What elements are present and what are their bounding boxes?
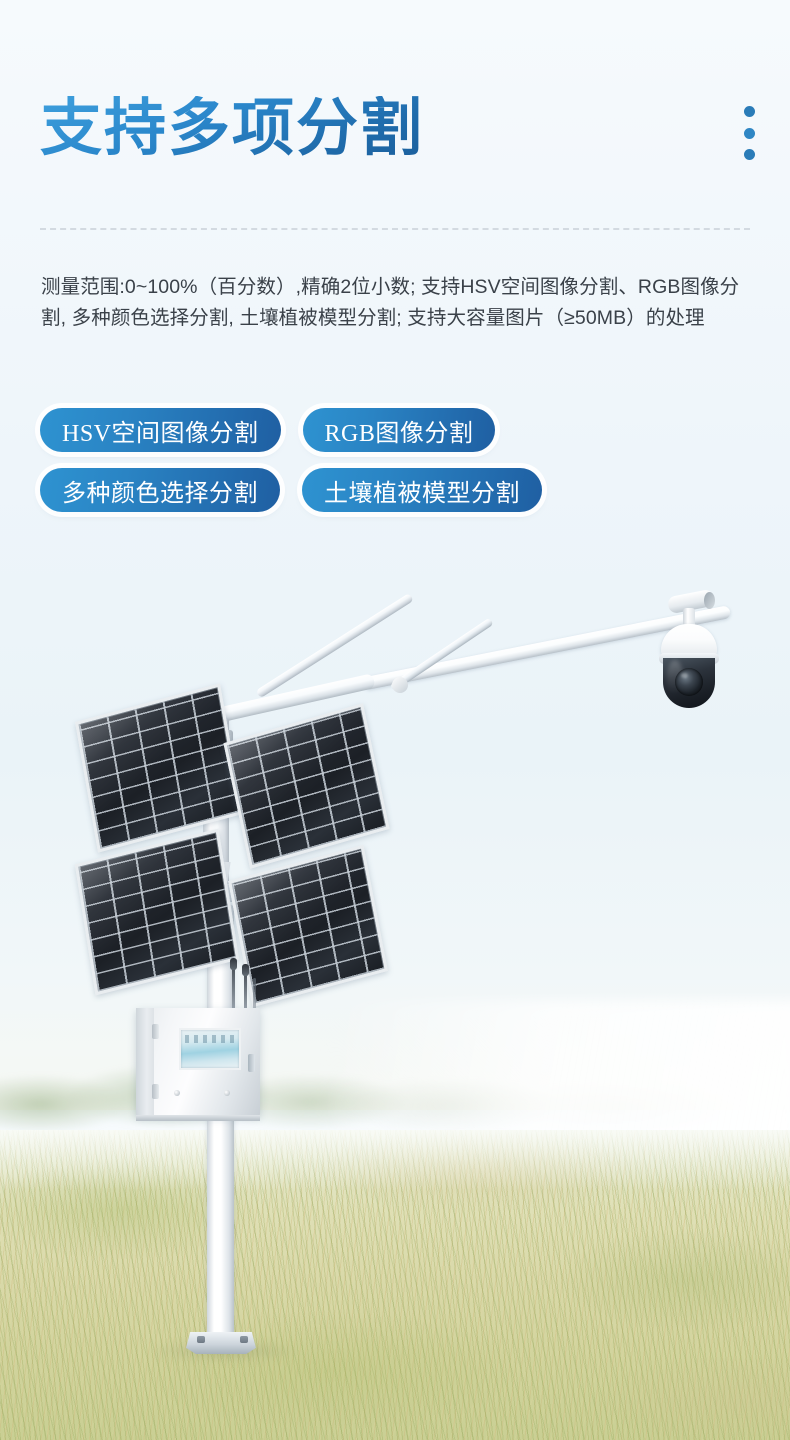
kebab-dot <box>744 128 755 139</box>
cabinet-hinge <box>152 1084 159 1099</box>
description-text: 测量范围:0~100%（百分数）,精确2位小数; 支持HSV空间图像分割、RGB… <box>41 272 756 334</box>
page-title: 支持多项分割 <box>40 96 424 163</box>
mast-pole <box>207 905 234 1350</box>
antenna-head <box>242 964 249 976</box>
brace-joint <box>392 677 408 693</box>
ground-haze-fade <box>0 1130 790 1190</box>
boom-arm-end-cap <box>704 592 715 609</box>
feature-tag-hsv[interactable]: HSV空间图像分割 <box>40 408 281 452</box>
ptz-dome-camera <box>663 658 715 708</box>
feature-tag-group: HSV空间图像分割 RGB图像分割 多种颜色选择分割 土壤植被模型分割 <box>40 408 740 528</box>
page-root: 支持多项分割 测量范围:0~100%（百分数）,精确2位小数; 支持HSV空间图… <box>0 0 790 1440</box>
kebab-dot <box>744 149 755 160</box>
cabinet-latch <box>248 1054 255 1072</box>
feature-tag-row: 多种颜色选择分割 土壤植被模型分割 <box>40 468 740 512</box>
control-cabinet <box>136 1008 260 1116</box>
lcd-display <box>179 1028 241 1070</box>
antenna-head <box>230 958 237 970</box>
cabinet-screw <box>224 1090 230 1096</box>
antenna <box>244 972 247 1010</box>
cabinet-screw <box>174 1090 180 1096</box>
cabinet-bottom-lip <box>136 1115 260 1121</box>
kebab-menu-icon[interactable] <box>742 106 756 160</box>
base-bolt <box>197 1336 205 1343</box>
header-divider <box>40 228 750 230</box>
feature-tag-rgb[interactable]: RGB图像分割 <box>303 408 496 452</box>
lcd-display-text-lines <box>185 1035 235 1043</box>
cabinet-hinge <box>152 1024 159 1039</box>
feature-tag-soil-vegetation[interactable]: 土壤植被模型分割 <box>302 468 542 512</box>
feature-tag-row: HSV空间图像分割 RGB图像分割 <box>40 408 740 452</box>
signal-cable <box>253 978 256 1010</box>
kebab-dot <box>744 106 755 117</box>
camera-lens <box>675 668 703 696</box>
feature-tag-multicolor[interactable]: 多种颜色选择分割 <box>40 468 280 512</box>
header-section: 支持多项分割 测量范围:0~100%（百分数）,精确2位小数; 支持HSV空间图… <box>0 0 790 560</box>
base-bolt <box>240 1336 248 1343</box>
antenna <box>232 966 235 1010</box>
